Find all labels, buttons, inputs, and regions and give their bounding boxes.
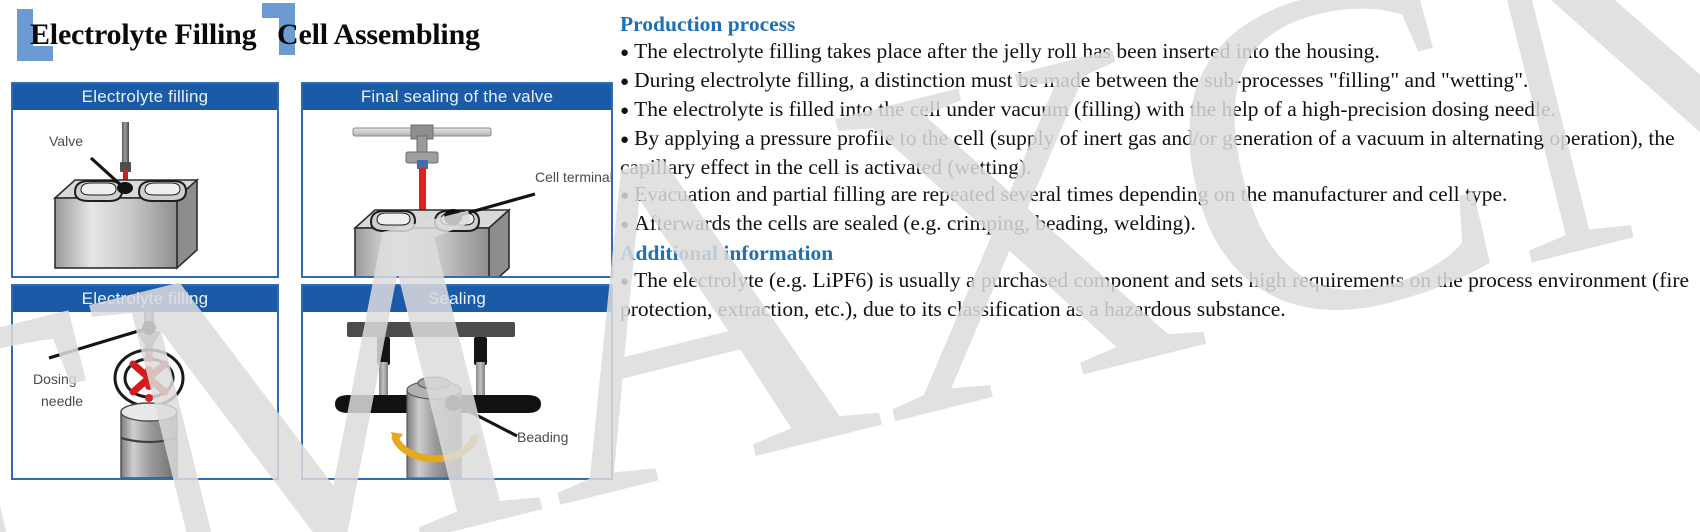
bullet-glyph: ● [620,217,634,233]
bullet-item: ●Afterwards the cells are sealed (e.g. c… [620,210,1690,239]
cylindrical-cell-top [121,403,177,421]
panel-electrolyte-filling-prismatic: Electrolyte filling [11,82,279,278]
bullet-glyph: ● [620,103,634,119]
section-heading-additional-information: Additional information [620,239,1690,267]
label-needle: needle [41,393,83,409]
panel-body-2: Cell terminal [303,110,611,276]
cylindrical-cell-body [121,412,177,478]
label-beading: Beading [517,429,568,445]
bullet-text: The electrolyte (e.g. LiPF6) is usually … [620,268,1689,321]
panel-header-3: Electrolyte filling [13,286,277,312]
bullet-item: ●Evacuation and partial filling are repe… [620,181,1690,210]
bullet-text: Afterwards the cells are sealed (e.g. cr… [634,211,1196,235]
illustration-panel-grid: Electrolyte filling [0,78,612,488]
panel-sealing: Sealing [301,284,613,480]
cell-terminal-left-shape [75,181,122,201]
panel-body-3: Dosing needle [13,312,277,478]
bullet-item: ●By applying a pressure profile to the c… [620,125,1690,181]
bullet-item: ●The electrolyte filling takes place aft… [620,38,1690,67]
page-title-left: Electrolyte Filling [30,18,256,52]
content-text-column: Production process ●The electrolyte fill… [620,10,1690,323]
panel-final-sealing-of-the-valve: Final sealing of the valve [301,82,613,278]
bullet-text: The electrolyte filling takes place afte… [634,39,1380,63]
droplet [145,354,153,362]
bullet-text: The electrolyte is filled into the cell … [634,97,1556,121]
panel-body-1: Valve [13,110,277,276]
press-rod-right-top [474,337,487,365]
page-title-right: Cell Assembling [277,18,480,52]
page-header: Electrolyte Filling Cell Assembling [0,0,620,70]
bullet-text: Evacuation and partial filling are repea… [634,182,1507,206]
dosing-needle-shape [122,122,129,168]
cell-terminal-left-shape [371,211,415,231]
press-rod-left-top [377,337,390,365]
droplet [145,366,153,374]
droplet [145,394,153,402]
cell-terminal-right-shape [139,181,186,201]
bullet-text: During electrolyte filling, a distinctio… [634,68,1528,92]
bullet-glyph: ● [620,45,634,61]
panel-header-2: Final sealing of the valve [303,84,611,110]
droplet [145,382,153,390]
bullet-glyph: ● [620,188,634,204]
bullet-text: By applying a pressure profile to the ce… [620,126,1675,179]
bullet-item: ●During electrolyte filling, a distincti… [620,67,1690,96]
label-valve: Valve [49,133,83,149]
panel-body-4: Beading [303,312,611,478]
bullet-glyph: ● [620,132,634,148]
page-root: Electrolyte Filling Cell Assembling Elec… [0,0,1700,532]
label-dosing: Dosing [33,371,77,387]
cell-front-face [355,228,489,276]
panel-header-4: Sealing [303,286,611,312]
press-top-beam [347,322,515,337]
bullet-item: ●The electrolyte (e.g. LiPF6) is usually… [620,267,1690,323]
bullet-item: ●The electrolyte is filled into the cell… [620,96,1690,125]
bullet-glyph: ● [620,274,634,290]
section-heading-production-process: Production process [620,10,1690,38]
panel-electrolyte-filling-cylindrical: Electrolyte filling [11,284,279,480]
cell-front-face [55,198,177,268]
label-cell-terminal: Cell terminal [535,169,611,185]
cylindrical-cell-cap [418,377,450,389]
bullet-glyph: ● [620,74,634,90]
panel-header-1: Electrolyte filling [13,84,277,110]
